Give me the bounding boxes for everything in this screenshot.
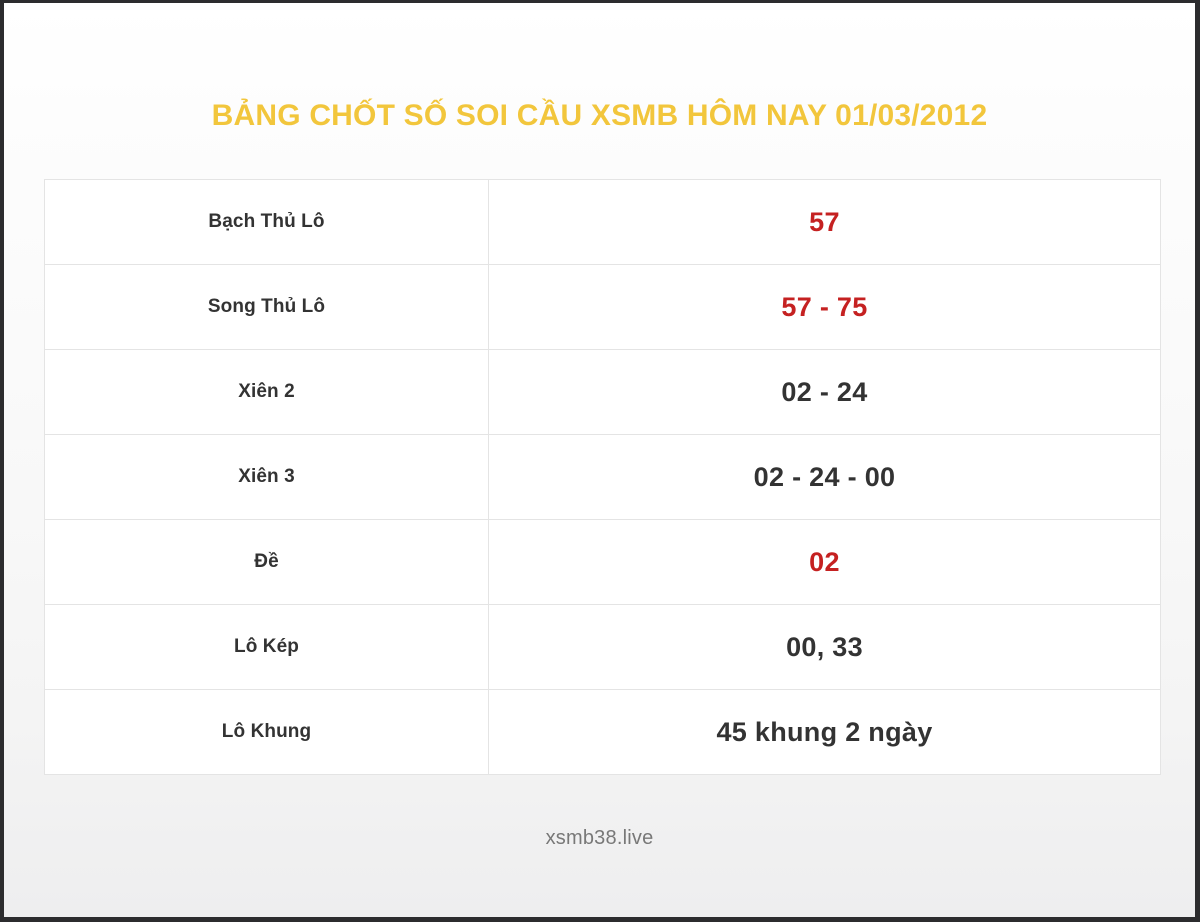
row-label: Đề — [45, 520, 489, 605]
row-label: Song Thủ Lô — [45, 265, 489, 350]
page-title: BẢNG CHỐT SỐ SOI CẦU XSMB HÔM NAY 01/03/… — [4, 99, 1195, 133]
site-footer: xsmb38.live — [4, 827, 1195, 850]
table-row: Xiên 202 - 24 — [45, 350, 1161, 435]
row-value: 02 — [489, 520, 1161, 605]
row-value: 57 - 75 — [489, 265, 1161, 350]
row-label: Xiên 2 — [45, 350, 489, 435]
table-row: Bạch Thủ Lô57 — [45, 180, 1161, 265]
table-row: Lô Khung45 khung 2 ngày — [45, 690, 1161, 775]
row-label: Bạch Thủ Lô — [45, 180, 489, 265]
row-value: 57 — [489, 180, 1161, 265]
row-value: 02 - 24 — [489, 350, 1161, 435]
row-value: 00, 33 — [489, 605, 1161, 690]
row-label: Lô Kép — [45, 605, 489, 690]
page-frame: BẢNG CHỐT SỐ SOI CẦU XSMB HÔM NAY 01/03/… — [0, 0, 1200, 922]
row-label: Lô Khung — [45, 690, 489, 775]
page-content: BẢNG CHỐT SỐ SOI CẦU XSMB HÔM NAY 01/03/… — [4, 3, 1195, 917]
row-value: 45 khung 2 ngày — [489, 690, 1161, 775]
forecast-table: Bạch Thủ Lô57Song Thủ Lô57 - 75Xiên 202 … — [44, 179, 1161, 775]
forecast-table-body: Bạch Thủ Lô57Song Thủ Lô57 - 75Xiên 202 … — [45, 180, 1161, 775]
table-row: Lô Kép00, 33 — [45, 605, 1161, 690]
row-value: 02 - 24 - 00 — [489, 435, 1161, 520]
table-row: Đề02 — [45, 520, 1161, 605]
row-label: Xiên 3 — [45, 435, 489, 520]
table-row: Xiên 302 - 24 - 00 — [45, 435, 1161, 520]
table-row: Song Thủ Lô57 - 75 — [45, 265, 1161, 350]
